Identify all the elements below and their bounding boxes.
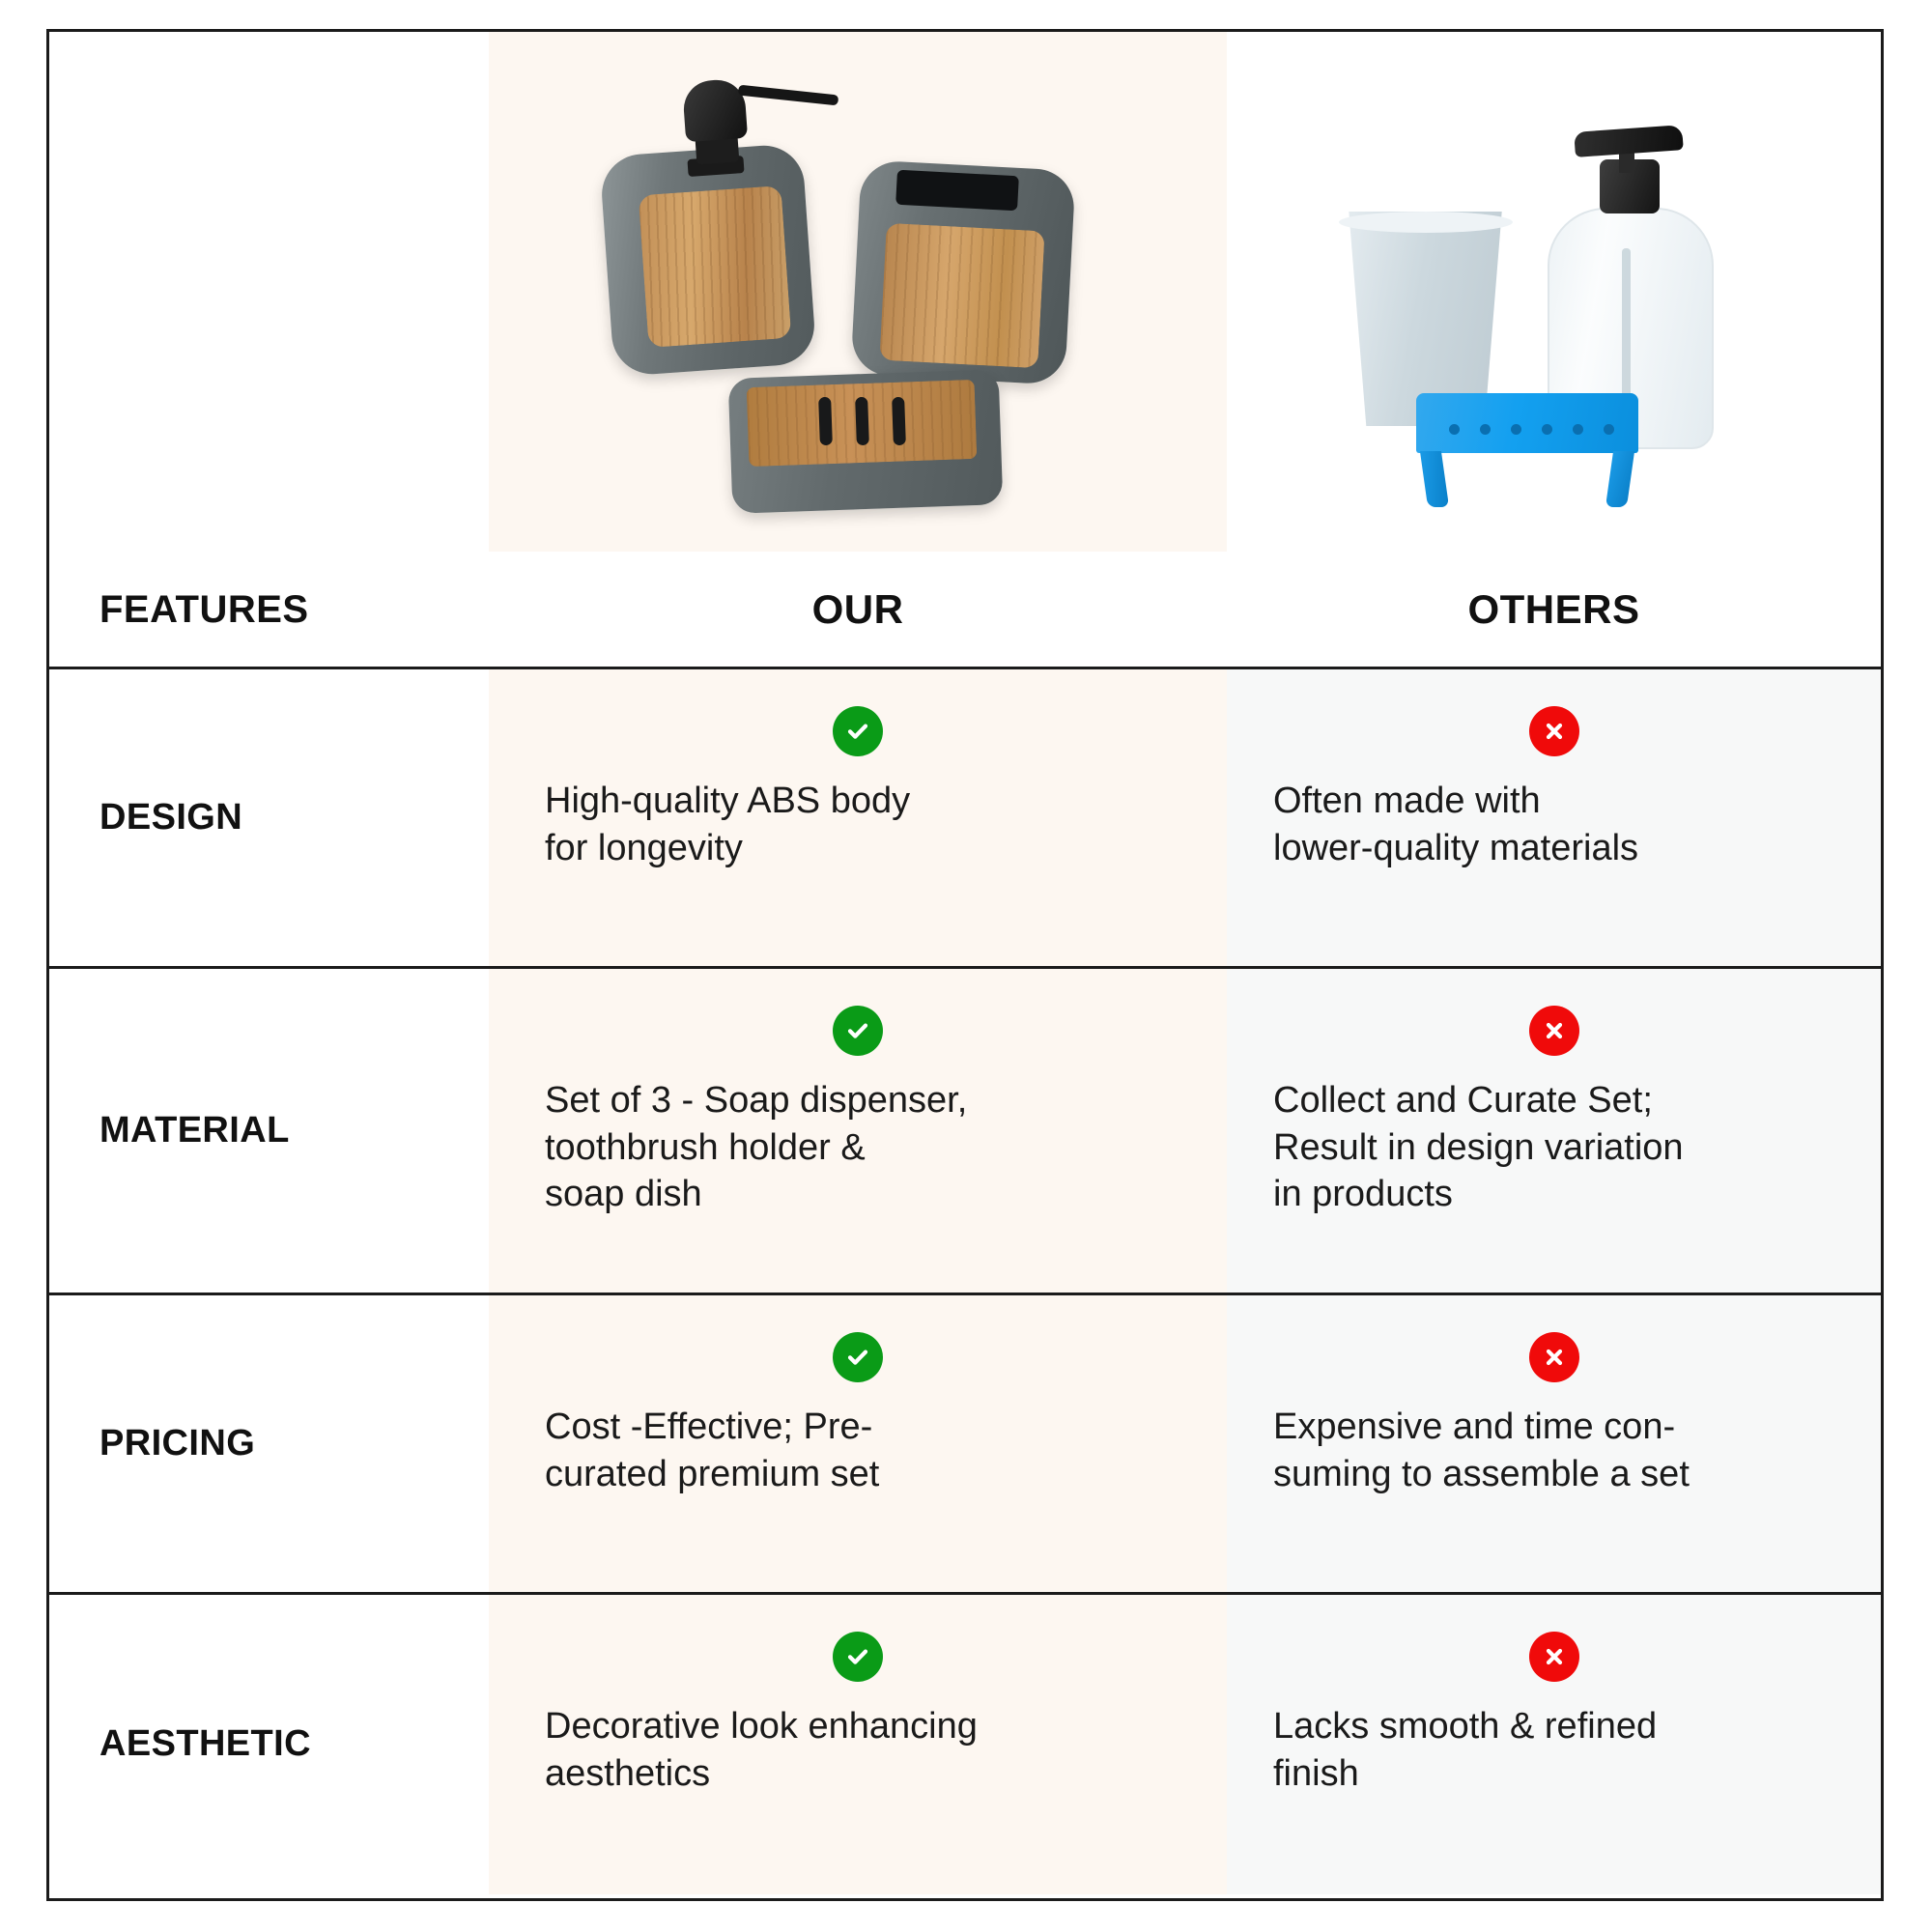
soap-dispenser-wood-panel [639, 185, 792, 348]
blue-soap-dish-top [1416, 393, 1638, 453]
check-circle-icon [833, 1632, 883, 1682]
blue-soap-dish-hole [1480, 424, 1491, 435]
check-circle-icon [833, 706, 883, 756]
our-product-image [587, 65, 1128, 519]
others-text-design: Often made with lower-quality materials [1227, 778, 1881, 871]
feature-label-pricing: PRICING [99, 1425, 255, 1463]
cross-circle-icon [1529, 706, 1579, 756]
feature-label-cell: MATERIAL [49, 969, 489, 1293]
feature-label-material: MATERIAL [99, 1112, 290, 1151]
comparison-page: FEATURES OUR OTHERS DESIGN High-quality … [0, 0, 1932, 1932]
blue-soap-dish-hole [1511, 424, 1521, 435]
toothbrush-holder-wood-panel [879, 223, 1044, 368]
our-cell-material: Set of 3 - Soap dispenser, toothbrush ho… [489, 969, 1227, 1293]
blue-soap-dish-leg [1605, 451, 1634, 507]
plastic-cup-rim [1339, 212, 1513, 233]
others-text-pricing: Expensive and time con- suming to assemb… [1227, 1404, 1881, 1497]
blue-soap-dish-hole [1449, 424, 1460, 435]
blue-soap-dish-hole [1604, 424, 1614, 435]
others-heading-cell: OTHERS [1227, 552, 1881, 667]
table-row: DESIGN High-quality ABS body for longevi… [49, 669, 1881, 969]
soap-dispenser-spout [738, 85, 839, 106]
hero-feature-cell [49, 32, 489, 552]
our-text-pricing: Cost -Effective; Pre- curated premium se… [489, 1404, 1227, 1497]
blue-soap-dish-hole [1573, 424, 1583, 435]
toothbrush-holder-opening [895, 170, 1019, 212]
cross-circle-icon [1529, 1632, 1579, 1682]
our-cell-design: High-quality ABS body for longevity [489, 669, 1227, 966]
our-text-design: High-quality ABS body for longevity [489, 778, 1227, 871]
others-text-aesthetic: Lacks smooth & refined finish [1227, 1703, 1881, 1797]
soap-dish-drain-slit [892, 397, 906, 445]
blue-soap-dish-hole [1542, 424, 1552, 435]
check-circle-icon [833, 1332, 883, 1382]
table-row: PRICING Cost -Effective; Pre- curated pr… [49, 1295, 1881, 1595]
others-heading: OTHERS [1467, 589, 1639, 630]
features-heading-cell: FEATURES [49, 552, 489, 667]
hero-row [49, 32, 1881, 552]
check-circle-icon [833, 1006, 883, 1056]
hero-our-cell [489, 32, 1227, 552]
others-cell-material: Collect and Curate Set; Result in design… [1227, 969, 1881, 1293]
others-text-material: Collect and Curate Set; Result in design… [1227, 1077, 1881, 1218]
features-heading: FEATURES [99, 590, 309, 629]
soap-dish-drain-slit [855, 397, 869, 445]
soap-dish-drain-slit [818, 397, 833, 445]
our-text-material: Set of 3 - Soap dispenser, toothbrush ho… [489, 1077, 1227, 1218]
column-headings-row: FEATURES OUR OTHERS [49, 552, 1881, 669]
our-text-aesthetic: Decorative look enhancing aesthetics [489, 1703, 1227, 1797]
our-heading-cell: OUR [489, 552, 1227, 667]
clear-bottle-pump-lever [1574, 125, 1684, 157]
hero-others-cell [1227, 32, 1881, 552]
feature-label-cell: AESTHETIC [49, 1595, 489, 1894]
others-cell-aesthetic: Lacks smooth & refined finish [1227, 1595, 1881, 1894]
table-row: MATERIAL Set of 3 - Soap dispenser, toot… [49, 969, 1881, 1295]
cross-circle-icon [1529, 1006, 1579, 1056]
others-cell-design: Often made with lower-quality materials [1227, 669, 1881, 966]
table-row: AESTHETIC Decorative look enhancing aest… [49, 1595, 1881, 1894]
our-cell-aesthetic: Decorative look enhancing aesthetics [489, 1595, 1227, 1894]
feature-label-design: DESIGN [99, 799, 242, 838]
cross-circle-icon [1529, 1332, 1579, 1382]
feature-label-aesthetic: AESTHETIC [99, 1725, 311, 1764]
our-heading: OUR [812, 589, 904, 630]
others-cell-pricing: Expensive and time con- suming to assemb… [1227, 1295, 1881, 1592]
comparison-table: FEATURES OUR OTHERS DESIGN High-quality … [46, 29, 1884, 1901]
others-product-image [1327, 84, 1781, 499]
our-cell-pricing: Cost -Effective; Pre- curated premium se… [489, 1295, 1227, 1592]
feature-label-cell: PRICING [49, 1295, 489, 1592]
feature-label-cell: DESIGN [49, 669, 489, 966]
blue-soap-dish-leg [1419, 451, 1448, 507]
